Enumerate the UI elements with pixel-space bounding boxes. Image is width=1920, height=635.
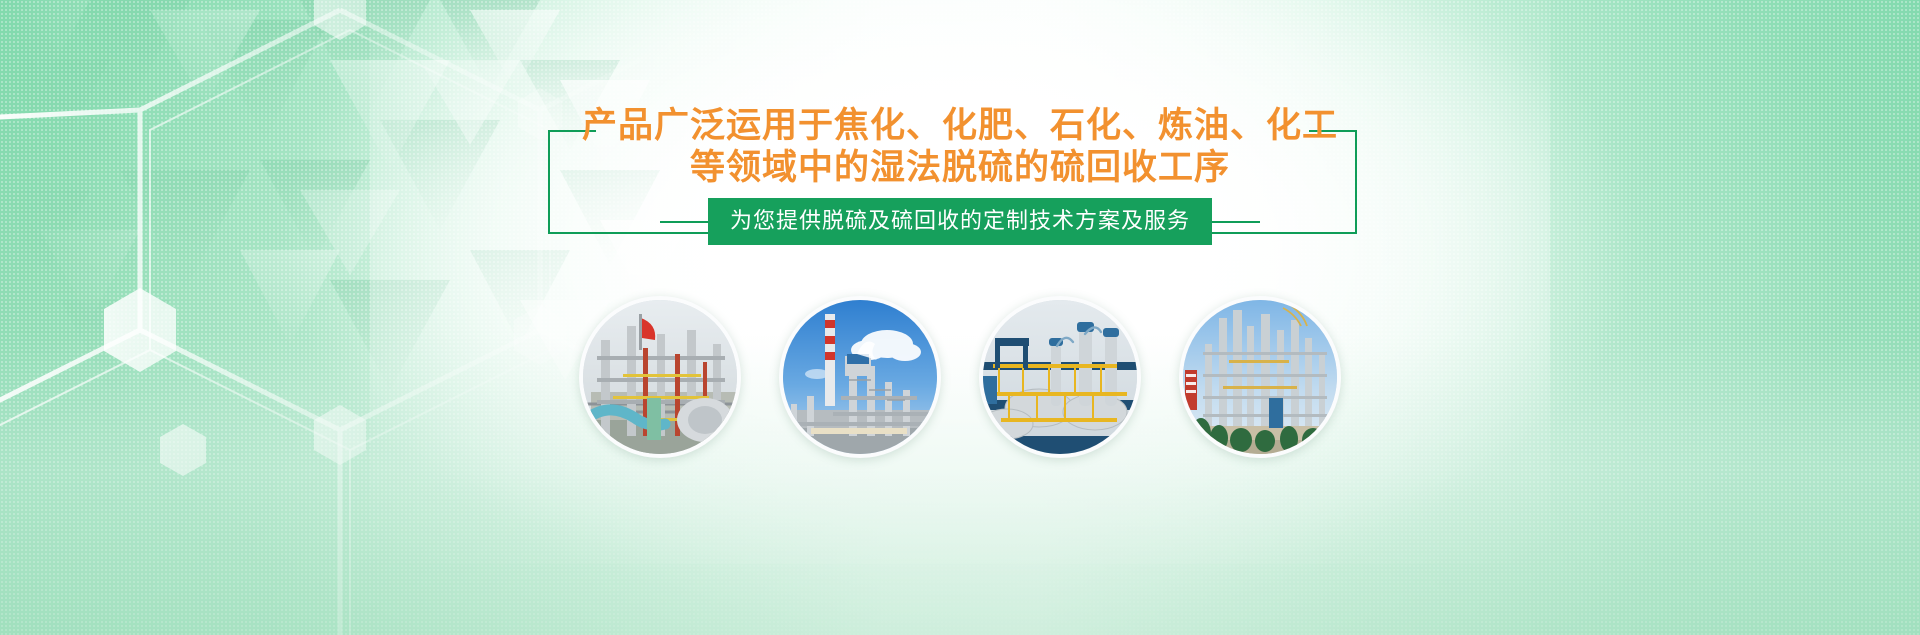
headline-line-2: 等领域中的湿法脱硫的硫回收工序 <box>582 147 1338 189</box>
headline: 产品广泛运用于焦化、化肥、石化、炼油、化工 等领域中的湿法脱硫的硫回收工序 <box>582 105 1338 189</box>
headline-line-1: 产品广泛运用于焦化、化肥、石化、炼油、化工 <box>582 106 1338 145</box>
headline-wrapper: 产品广泛运用于焦化、化肥、石化、炼油、化工 等领域中的湿法脱硫的硫回收工序 <box>0 105 1920 189</box>
photo-desulfurization-plant-piping <box>579 296 741 458</box>
photo-circle-row <box>0 296 1920 458</box>
subtitle-bar: 为您提供脱硫及硫回收的定制技术方案及服务 <box>708 198 1212 245</box>
photo-chemical-plant-stack <box>779 296 941 458</box>
hero-banner: 产品广泛运用于焦化、化肥、石化、炼油、化工 等领域中的湿法脱硫的硫回收工序 为您… <box>0 0 1920 635</box>
banner-content: 产品广泛运用于焦化、化肥、石化、炼油、化工 等领域中的湿法脱硫的硫回收工序 为您… <box>0 0 1920 635</box>
subtitle-wrapper: 为您提供脱硫及硫回收的定制技术方案及服务 <box>0 198 1920 245</box>
photo-refinery-towers <box>1179 296 1341 458</box>
photo-sulfur-recovery-unit <box>979 296 1141 458</box>
subtitle-rule-left <box>660 221 708 223</box>
subtitle-rule-right <box>1212 221 1260 223</box>
